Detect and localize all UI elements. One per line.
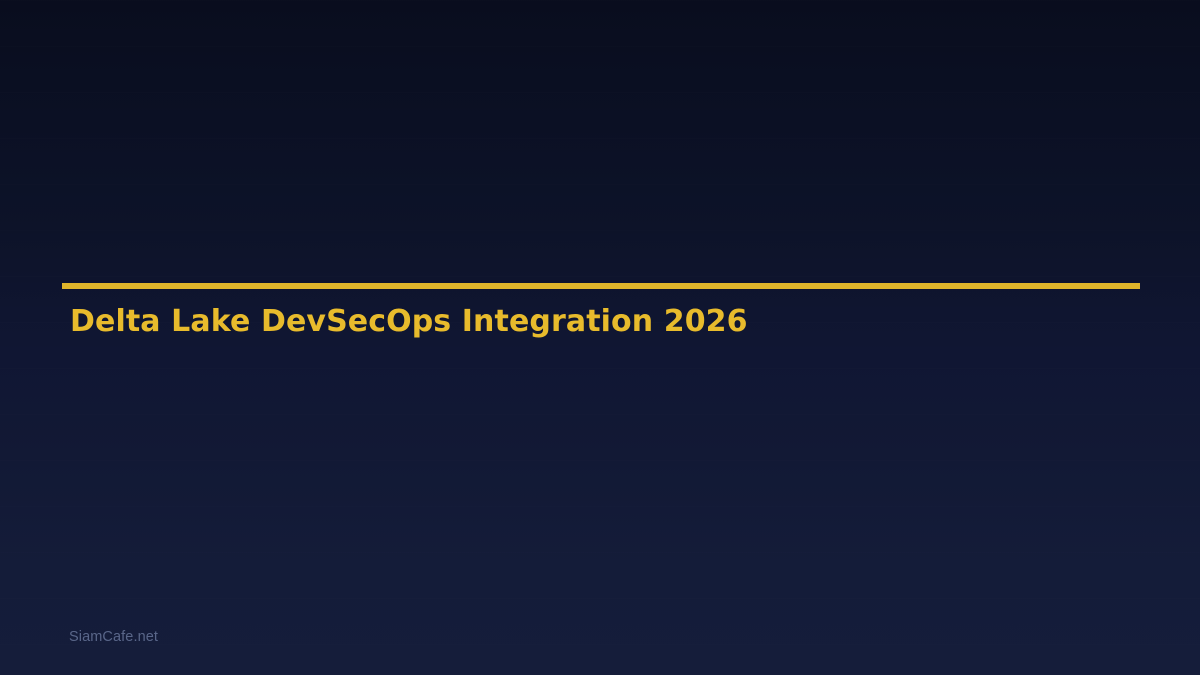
title-block: Delta Lake DevSecOps Integration 2026 (62, 283, 1140, 289)
presentation-slide: Delta Lake DevSecOps Integration 2026 Si… (0, 0, 1200, 675)
page-title: Delta Lake DevSecOps Integration 2026 (70, 304, 748, 339)
footer-branding: SiamCafe.net (69, 630, 158, 645)
accent-rule (62, 283, 1140, 289)
